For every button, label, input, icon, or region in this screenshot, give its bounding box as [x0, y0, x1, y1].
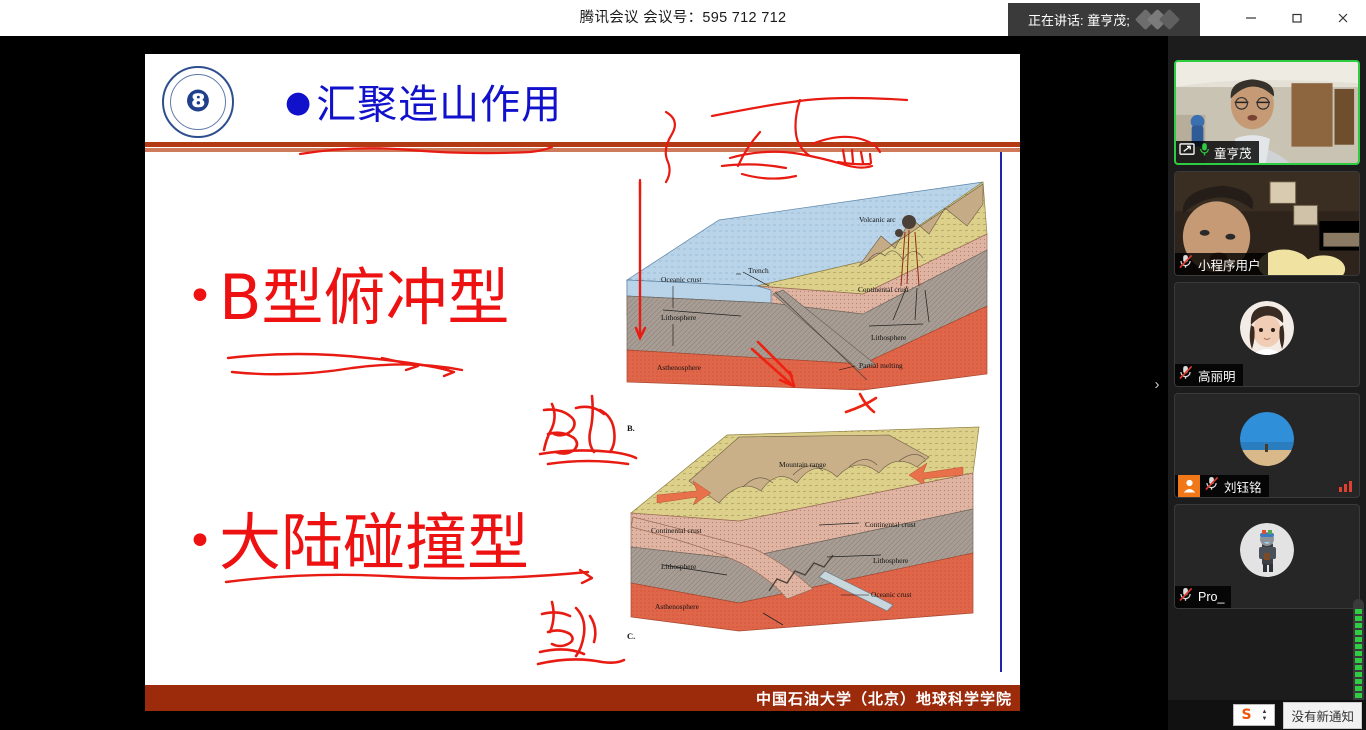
bullet-dot: •	[187, 516, 213, 567]
meeting-watermark-logo	[1136, 9, 1184, 31]
fig-b-panel-label-top: B.	[627, 423, 635, 433]
participant-name: 高丽明	[1198, 366, 1236, 385]
slide-bullet-1: •B型俯冲型	[187, 247, 510, 337]
windows-taskbar: S ▲▼ 没有新通知	[1168, 700, 1366, 730]
university-logo-icon: ❽	[162, 66, 234, 138]
fig-b-label-continental-crust-left: Continental crust	[651, 526, 703, 535]
mic-off-icon	[1204, 476, 1220, 496]
figure-continental-collision: Mountain range Continental crust Contine…	[623, 417, 991, 642]
slide-bullet-2: •大陆碰撞型	[187, 492, 529, 582]
fig-b-label-lithosphere-left: Lithosphere	[661, 562, 697, 571]
title-bar: 腾讯会议 会议号：595 712 712 正在讲话: 童亨茂;	[0, 0, 1366, 36]
close-icon[interactable]	[1320, 0, 1366, 36]
participant-name: Pro_	[1198, 590, 1224, 604]
avatar	[1240, 412, 1294, 466]
window-controls	[1228, 0, 1366, 36]
fig-b-label-mountain-range: Mountain range	[779, 460, 827, 469]
fig-a-label-lithosphere-right: Lithosphere	[871, 333, 907, 342]
participant-name: 小程序用户	[1198, 255, 1261, 274]
mic-off-icon	[1178, 254, 1194, 274]
participant-badge: 高丽明	[1175, 364, 1243, 386]
mic-on-icon	[1199, 142, 1210, 162]
volume-level-slider[interactable]	[1353, 599, 1364, 709]
fig-a-label-trench: Trench	[748, 266, 769, 275]
notification-status[interactable]: 没有新通知	[1283, 702, 1362, 729]
participant-tile-liuyuming[interactable]: 刘钰铭	[1174, 393, 1360, 498]
figure-subduction-zone: Volcanic arc Oceanic crust Trench Contin…	[623, 174, 991, 398]
slide-divider	[145, 142, 1020, 152]
ime-arrows-icon[interactable]: ▲▼	[1262, 709, 1268, 722]
slide-right-rule	[1000, 152, 1002, 672]
avatar	[1240, 523, 1294, 577]
maximize-icon[interactable]	[1274, 0, 1320, 36]
mic-off-icon	[1178, 365, 1194, 385]
fig-b-label-oceanic-crust: Oceanic crust	[871, 590, 912, 599]
screen-share-icon	[1179, 143, 1195, 162]
fig-b-label-continental-crust-right: Continental crust	[865, 520, 917, 529]
shared-screen-area: ❽ ●汇聚造山作用 •B型俯冲型 •大陆碰撞型	[0, 36, 1168, 730]
avatar	[1240, 301, 1294, 355]
participant-badge: 童亨茂	[1176, 141, 1259, 163]
participant-name: 童亨茂	[1214, 143, 1252, 162]
participant-name: 刘钰铭	[1224, 477, 1262, 496]
participant-badge: 刘钰铭	[1175, 475, 1269, 497]
fig-a-label-continental-crust: Continental crust	[858, 285, 910, 294]
network-signal-icon	[1339, 481, 1352, 492]
fig-a-label-partial-melting: Partial melting	[859, 361, 903, 370]
fig-a-label-oceanic-crust: Oceanic crust	[661, 275, 702, 284]
participant-video-panel: 童亨茂	[1168, 36, 1366, 730]
slide-title-text: 汇聚造山作用	[316, 82, 562, 128]
logo-glyph: ❽	[185, 87, 210, 117]
participant-tile-gaoliming[interactable]: 高丽明	[1174, 282, 1360, 387]
sogou-ime-indicator[interactable]: S ▲▼	[1233, 704, 1275, 726]
fig-a-label-lithosphere-left: Lithosphere	[661, 313, 697, 322]
participant-badge: Pro_	[1175, 586, 1231, 608]
presentation-slide: ❽ ●汇聚造山作用 •B型俯冲型 •大陆碰撞型	[145, 54, 1020, 711]
mic-off-icon	[1178, 587, 1194, 607]
slide-footer: 中国石油大学（北京）地球科学学院	[145, 685, 1020, 711]
fig-a-label-asthenosphere: Asthenosphere	[657, 363, 702, 372]
fig-a-label-volcanic-arc: Volcanic arc	[859, 215, 896, 224]
fig-b-label-asthenosphere: Asthenosphere	[655, 602, 700, 611]
participant-badge: 小程序用户	[1175, 253, 1268, 275]
participant-tile-pro[interactable]: Pro_	[1174, 504, 1360, 609]
speaking-indicator: 正在讲话: 童亨茂;	[1008, 3, 1200, 36]
bullet-text: 大陆碰撞型	[219, 506, 529, 579]
slide-title: ●汇聚造山作用	[285, 72, 562, 130]
bullet-text: B型俯冲型	[219, 261, 510, 334]
bullet-dot: •	[187, 271, 213, 322]
chevron-right-icon[interactable]: ›	[1150, 376, 1164, 394]
fig-b-label-lithosphere-right: Lithosphere	[873, 556, 909, 565]
meeting-window: 腾讯会议 会议号：595 712 712 正在讲话: 童亨茂; ❽ ●汇聚造山作	[0, 0, 1366, 730]
ime-logo-icon: S	[1241, 708, 1251, 722]
speaking-label: 正在讲话: 童亨茂;	[1028, 10, 1130, 29]
participant-tile-xiaochengxuyonghu[interactable]: 小程序用户	[1174, 171, 1360, 276]
participant-tile-tonghengmao[interactable]: 童亨茂	[1174, 60, 1360, 165]
slide-title-bullet: ●	[285, 85, 312, 120]
minimize-icon[interactable]	[1228, 0, 1274, 36]
fig-b-panel-label-bottom: C.	[627, 631, 635, 641]
host-badge-icon	[1178, 475, 1200, 497]
